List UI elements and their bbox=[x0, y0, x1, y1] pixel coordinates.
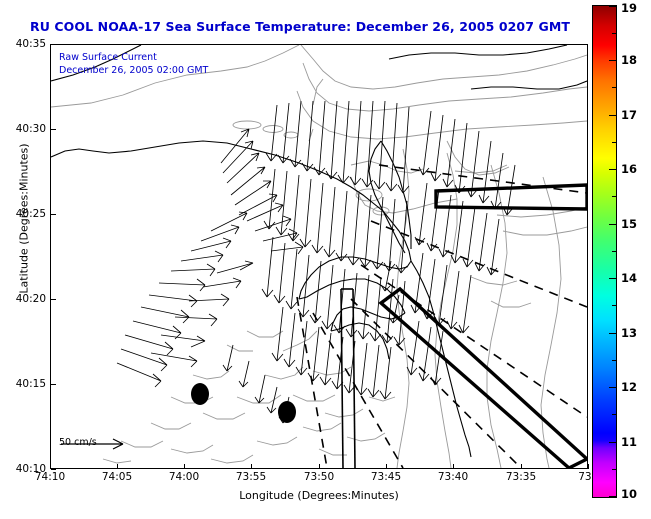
colorbar-tick-label: 11 bbox=[621, 435, 637, 449]
x-tick-label: 74:05 bbox=[102, 471, 132, 483]
bathymetry-contours bbox=[51, 45, 587, 468]
colorbar-tick-label: 12 bbox=[621, 380, 637, 394]
colorbar-tick-label: 10 bbox=[621, 487, 637, 501]
x-tick-label: 73:50 bbox=[304, 471, 334, 483]
colorbar-tick-label: 17 bbox=[621, 108, 637, 122]
colorbar-tick-label: 19 bbox=[621, 1, 637, 15]
radar-station-markers bbox=[191, 383, 296, 423]
y-axis-title: Latitude (Degrees:Minutes) bbox=[18, 99, 31, 339]
map-graphics bbox=[51, 45, 587, 468]
x-tick-label: 73:35 bbox=[506, 471, 536, 483]
y-tick-label: 40:15 bbox=[16, 378, 46, 390]
vector-scale-bar: 50 cm/s bbox=[59, 437, 97, 450]
current-annotation-line2: December 26, 2005 02:00 GMT bbox=[59, 64, 208, 77]
x-axis-title: Longitude (Degrees:Minutes) bbox=[50, 489, 588, 502]
current-annotation: Raw Surface Current December 26, 2005 02… bbox=[59, 51, 208, 77]
colorbar-tick-label: 16 bbox=[621, 162, 637, 176]
figure-title: RU COOL NOAA-17 Sea Surface Temperature:… bbox=[0, 19, 600, 34]
x-tick-label: 74:00 bbox=[169, 471, 199, 483]
colorbar-tick-label: 14 bbox=[621, 271, 637, 285]
vector-scale-arrow-icon bbox=[59, 437, 131, 451]
colorbar-tick-label: 13 bbox=[621, 326, 637, 340]
surface-current-vectors bbox=[117, 101, 515, 423]
map-plot-area: Raw Surface Current December 26, 2005 02… bbox=[50, 44, 588, 469]
x-tick-label: 73:40 bbox=[438, 471, 468, 483]
y-tick-label: 40:10 bbox=[16, 463, 46, 475]
figure-root: RU COOL NOAA-17 Sea Surface Temperature:… bbox=[0, 0, 651, 519]
x-tick-label: 73:55 bbox=[236, 471, 266, 483]
y-tick-label: 40:35 bbox=[16, 38, 46, 50]
radar-beam-vertical bbox=[341, 289, 355, 468]
current-annotation-line1: Raw Surface Current bbox=[59, 51, 208, 64]
colorbar-tick-label: 18 bbox=[621, 53, 637, 67]
x-tick-label: 73:45 bbox=[371, 471, 401, 483]
colorbar-tick-label: 15 bbox=[621, 217, 637, 231]
